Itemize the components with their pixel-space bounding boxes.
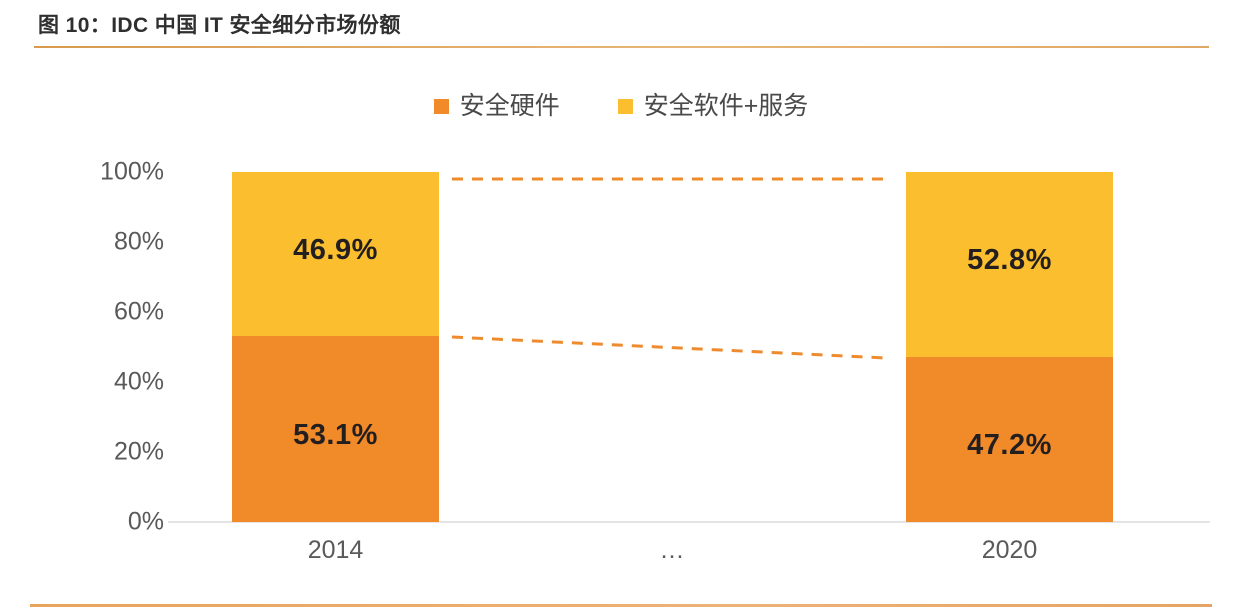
connector-line-boundary (452, 337, 886, 358)
bar-2014-label-software-services: 46.9% (293, 236, 378, 265)
chart-plot-area: 100% 80% 60% 40% 20% 0% 46.9% 53.1% 52.8… (0, 0, 1242, 613)
bar-2014-segment-hardware[interactable]: 53.1% (232, 336, 439, 522)
bar-2014[interactable]: 46.9% 53.1% (232, 172, 439, 522)
bar-2014-segment-software-services[interactable]: 46.9% (232, 172, 439, 336)
x-label-2020: 2020 (906, 538, 1113, 563)
bar-2014-label-hardware: 53.1% (293, 421, 378, 450)
y-tick-100: 100% (64, 160, 164, 185)
bar-2020-segment-software-services[interactable]: 52.8% (906, 172, 1113, 357)
y-tick-40: 40% (64, 370, 164, 395)
x-label-ellipsis: … (622, 538, 722, 563)
bar-2020-label-hardware: 47.2% (967, 431, 1052, 460)
y-axis: 100% 80% 60% 40% 20% 0% (64, 150, 164, 536)
y-tick-0: 0% (64, 510, 164, 535)
y-tick-60: 60% (64, 300, 164, 325)
footer-divider (30, 604, 1212, 607)
bar-2020-segment-hardware[interactable]: 47.2% (906, 357, 1113, 522)
x-label-2014: 2014 (232, 538, 439, 563)
y-tick-80: 80% (64, 230, 164, 255)
y-tick-20: 20% (64, 440, 164, 465)
bar-2020-label-software-services: 52.8% (967, 246, 1052, 275)
bar-2020[interactable]: 52.8% 47.2% (906, 172, 1113, 522)
